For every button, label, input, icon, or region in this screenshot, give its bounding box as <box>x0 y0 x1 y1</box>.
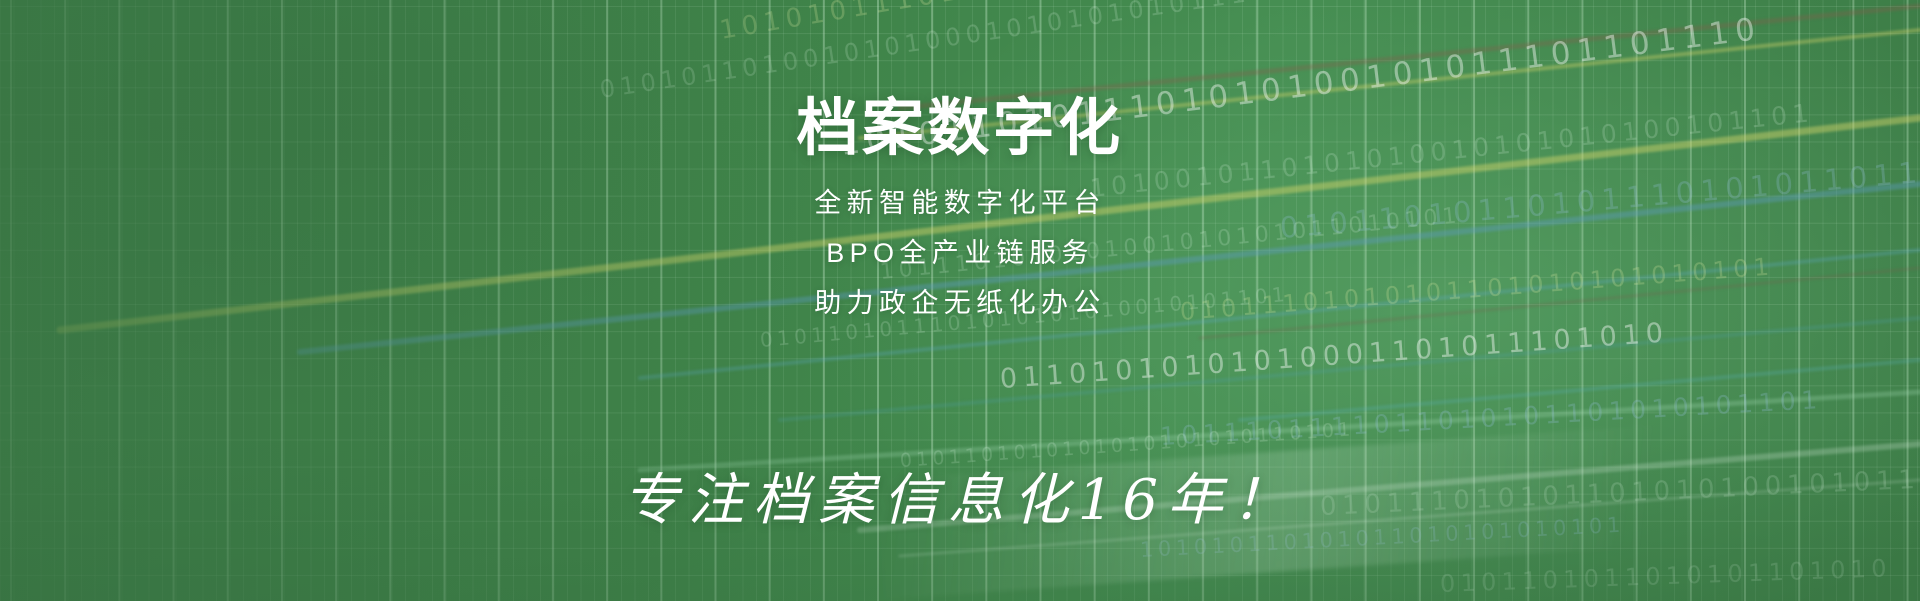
binary-digit-row: 1011101010101001010101011010101 <box>879 205 1462 284</box>
binary-digit-row: 0101101010101010101010110101 <box>899 420 1355 471</box>
hero-banner: 1010101110111101010101110101010110100101… <box>0 0 1920 601</box>
background-binary-digits: 1010101110111101010101110101010110100101… <box>0 0 1920 601</box>
binary-digit-row: 01011101010110101010010101101 <box>1319 465 1920 520</box>
binary-digit-row: 0101101011010101101010 <box>1440 556 1893 596</box>
binary-digit-row: 101010110101011010101010101 <box>1139 515 1625 561</box>
binary-digit-row: 01101010101010001101011101010 <box>999 319 1670 393</box>
